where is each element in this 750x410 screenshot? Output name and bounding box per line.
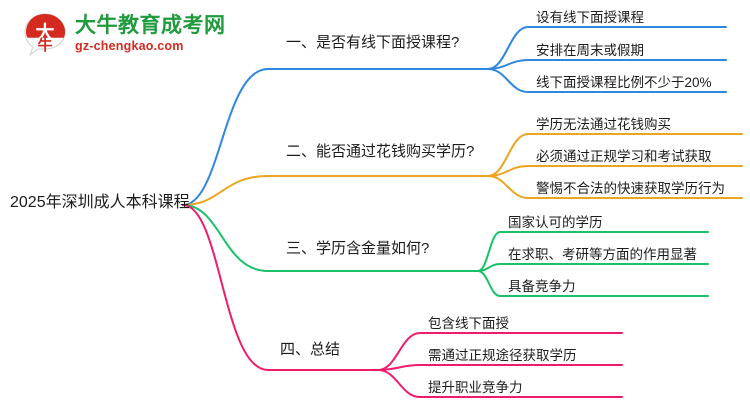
branch-1-child-2-label: 安排在周末或假期 <box>536 42 644 60</box>
branch-3-child-2-label: 在求职、考研等方面的作用显著 <box>508 246 697 264</box>
branch-2-label: 二、能否通过花钱购买学历? <box>286 142 474 162</box>
logo-domain: gz-chengkao.com <box>75 40 226 53</box>
branch-2-child-3-label: 警惕不合法的快速获取学历行为 <box>536 180 725 198</box>
site-logo: 大 牛 大牛教育成考网 gz-chengkao.com <box>22 10 222 58</box>
branch-2-child-1-label: 学历无法通过花钱购买 <box>536 116 671 134</box>
branch-2-spine <box>183 176 488 205</box>
daniu-bull-logo-icon: 大 牛 <box>22 11 68 57</box>
branch-3-label: 三、学历含金量如何? <box>286 239 429 259</box>
mindmap-root-node: 2025年深圳成人本科课程 <box>10 192 190 214</box>
branch-1-child-1-label: 设有线下面授课程 <box>536 9 644 27</box>
branch-3-child-1-label: 国家认可的学历 <box>508 214 603 232</box>
branch-4-child-1-label: 包含线下面授 <box>428 315 509 333</box>
logo-site-name: 大牛教育成考网 <box>75 15 226 36</box>
branch-3-child-3-label: 具备竞争力 <box>508 278 576 296</box>
branch-1-spine <box>183 69 488 205</box>
branch-2-child-2-label: 必须通过正规学习和考试获取 <box>536 148 712 166</box>
branch-1-label: 一、是否有线下面授课程? <box>286 33 459 53</box>
branch-4-child-2-label: 需通过正规途径获取学历 <box>428 347 577 365</box>
branch-4-child-3-label: 提升职业竞争力 <box>428 379 523 397</box>
logo-wordmark: 大牛教育成考网 gz-chengkao.com <box>75 15 226 53</box>
branch-1-child-2-connector <box>488 60 726 69</box>
branch-4-label: 四、总结 <box>280 340 340 360</box>
branch-3-child-2-connector <box>478 264 708 271</box>
branch-1-child-3-label: 线下面授课程比例不少于20% <box>536 74 712 92</box>
branch-4-child-2-connector <box>378 365 622 370</box>
svg-text:牛: 牛 <box>37 36 52 54</box>
branch-2-child-2-connector <box>488 166 742 176</box>
branch-3-spine <box>183 205 478 271</box>
